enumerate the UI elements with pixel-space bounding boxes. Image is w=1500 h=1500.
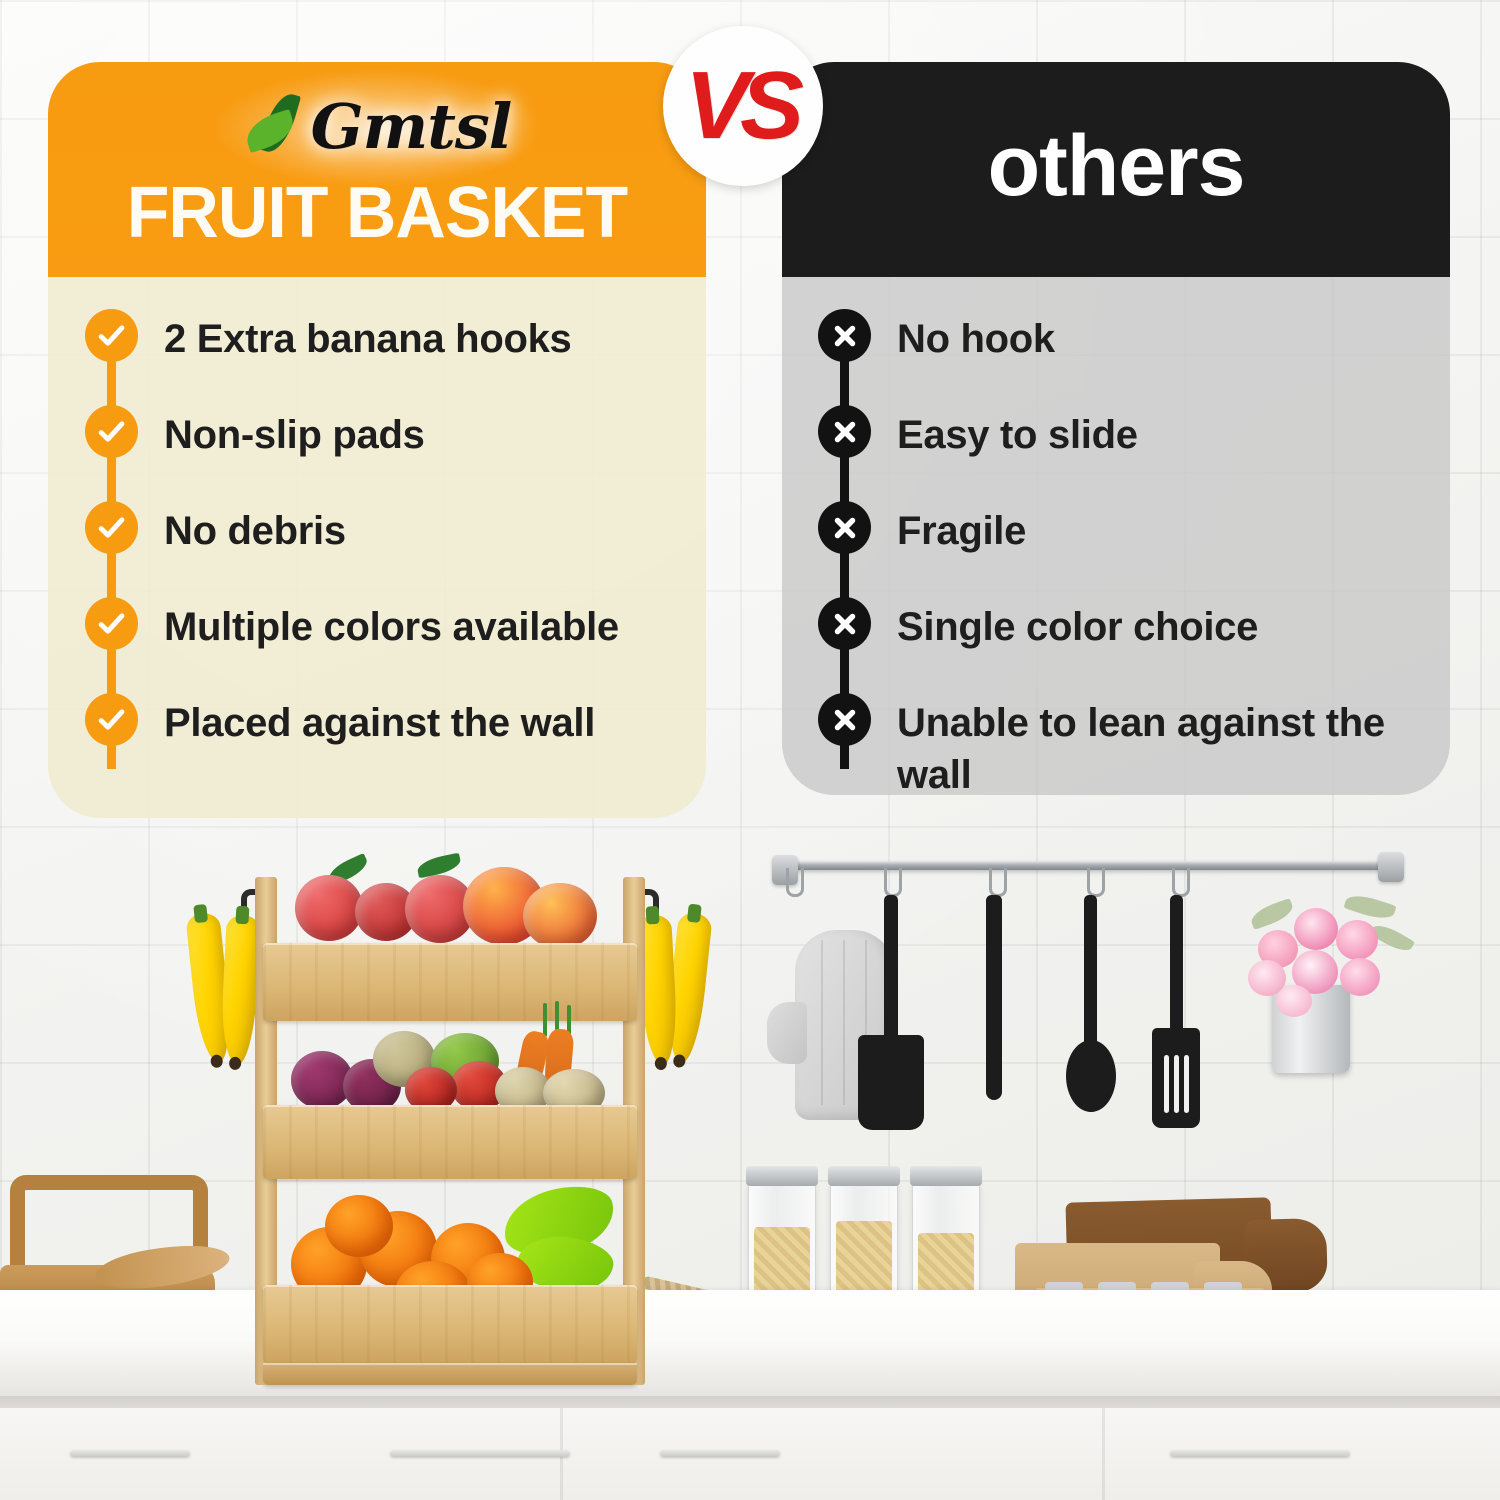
list-item: No debris	[85, 505, 685, 557]
list-item: Unable to lean against the wall	[818, 697, 1448, 801]
feature-label: 2 Extra banana hooks	[164, 313, 571, 365]
basket-tier-2-front	[263, 1105, 637, 1179]
cross-icon	[818, 693, 871, 746]
vs-label: VS	[685, 58, 795, 154]
list-item: Multiple colors available	[85, 601, 685, 653]
spoon-head	[1066, 1040, 1116, 1112]
cross-icon	[818, 501, 871, 554]
list-item: Fragile	[818, 505, 1448, 557]
feature-label: Single color choice	[897, 601, 1258, 653]
others-feature-list: No hook Easy to slide Fragile Single col…	[818, 313, 1448, 801]
feature-label: Fragile	[897, 505, 1026, 557]
brand-logo: Gmtsl	[48, 84, 706, 170]
apple-1	[295, 875, 363, 941]
product-title: FRUIT BASKET	[58, 174, 696, 252]
rose-7	[1276, 985, 1312, 1017]
list-item: No hook	[818, 313, 1448, 365]
others-title: others	[782, 118, 1450, 214]
cabinets	[0, 1408, 1500, 1500]
peach-2	[523, 883, 597, 949]
list-item: Easy to slide	[818, 409, 1448, 461]
feature-label: Placed against the wall	[164, 697, 595, 749]
cross-icon	[818, 405, 871, 458]
s-hook-3	[989, 868, 1007, 897]
s-hook-4	[1087, 868, 1105, 897]
feature-label: No debris	[164, 505, 346, 557]
countertop	[0, 1290, 1500, 1408]
rose-3	[1336, 920, 1378, 960]
orange-4	[325, 1195, 393, 1257]
basket-tier-1-front	[263, 943, 637, 1021]
list-item: 2 Extra banana hooks	[85, 313, 685, 365]
check-icon	[85, 501, 138, 554]
ladle-utensil	[986, 895, 1002, 1100]
spoon-handle	[1084, 895, 1097, 1050]
check-icon	[85, 405, 138, 458]
spatula-head	[858, 1035, 924, 1130]
list-item: Single color choice	[818, 601, 1448, 653]
rail-mount-right	[1378, 852, 1404, 882]
s-hook-1	[786, 868, 804, 897]
feature-label: Non-slip pads	[164, 409, 425, 461]
list-item: Placed against the wall	[85, 697, 685, 749]
check-icon	[85, 693, 138, 746]
vs-badge: VS	[663, 26, 823, 186]
s-hook-5	[1172, 868, 1190, 897]
rose-2	[1294, 908, 1338, 950]
s-hook-2	[884, 868, 902, 897]
basket-tier-3-front	[263, 1285, 637, 1363]
brand-name: Gmtsl	[311, 96, 512, 158]
feature-label: Multiple colors available	[164, 601, 619, 653]
basket-base	[263, 1363, 637, 1385]
spatula-handle	[884, 895, 898, 1040]
feature-label: No hook	[897, 313, 1055, 365]
list-item: Non-slip pads	[85, 409, 685, 461]
check-icon	[85, 597, 138, 650]
leaf-icon	[243, 90, 317, 164]
product-feature-list: 2 Extra banana hooks Non-slip pads No de…	[85, 313, 685, 749]
feature-label: Easy to slide	[897, 409, 1138, 461]
rose-6	[1340, 958, 1380, 996]
feature-label: Unable to lean against the wall	[897, 697, 1448, 801]
infographic-canvas: Gmtsl FRUIT BASKET 2 Extra banana hooks …	[0, 0, 1500, 1500]
cross-icon	[818, 597, 871, 650]
bamboo-fruit-basket	[255, 855, 645, 1385]
cross-icon	[818, 309, 871, 362]
turner-handle	[1170, 895, 1183, 1035]
check-icon	[85, 309, 138, 362]
